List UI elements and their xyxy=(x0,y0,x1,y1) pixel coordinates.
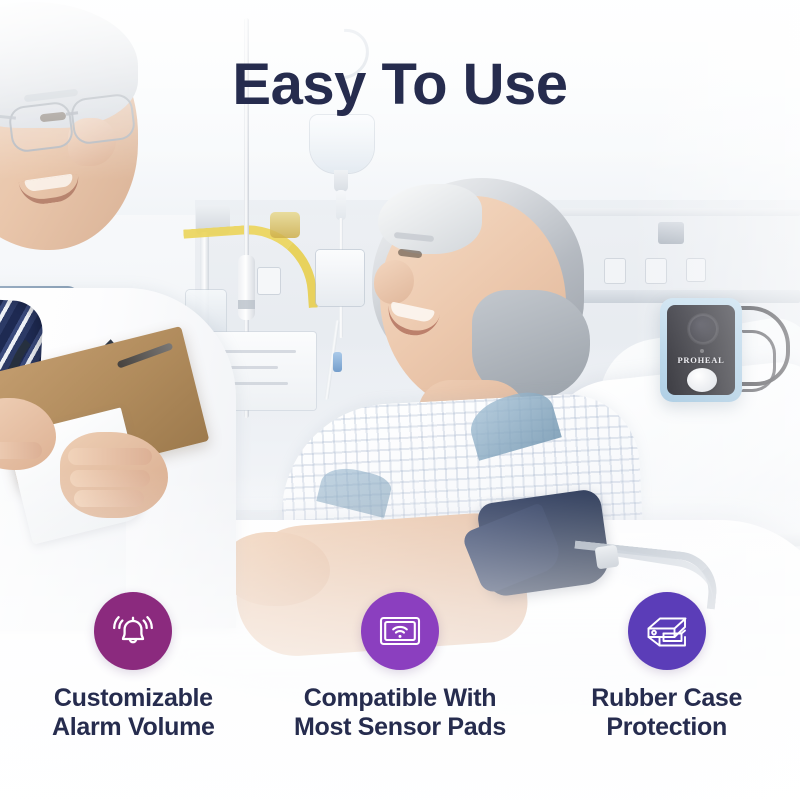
speaker-icon xyxy=(688,314,718,344)
proheal-alarm-device: PROHEAL xyxy=(660,298,742,402)
feature-row: Customizable Alarm Volume Compatible Wit… xyxy=(0,592,800,742)
device-brand-label: PROHEAL xyxy=(667,355,735,365)
page-title: Easy To Use xyxy=(0,56,800,114)
iv-bag-neck xyxy=(334,170,348,192)
lanyard-cord-inner xyxy=(740,330,776,392)
rubber-case-tray-icon-circle xyxy=(628,592,706,670)
iv-roller-clamp xyxy=(333,352,342,372)
sensor-pad-wifi-icon xyxy=(376,607,424,655)
wall-trim-upper xyxy=(560,208,800,216)
wall-socket xyxy=(645,258,667,284)
sensor-pad-wifi-icon-circle xyxy=(361,592,439,670)
feature-item-sensor-pads: Compatible With Most Sensor Pads xyxy=(267,592,534,742)
wall-socket xyxy=(604,258,626,284)
iv-drip-chamber xyxy=(336,190,346,220)
feature-label: Compatible With Most Sensor Pads xyxy=(294,684,506,742)
rubber-case-tray-icon xyxy=(643,607,691,655)
bell-icon xyxy=(110,608,156,654)
feature-item-rubber-case: Rubber Case Protection xyxy=(533,592,800,742)
iv-fluid-bag xyxy=(310,115,374,173)
wall-socket xyxy=(686,258,706,282)
doctor-hand-lower xyxy=(60,432,168,518)
patient-hair-front xyxy=(378,184,482,254)
product-feature-card: PROHEAL Easy To Use xyxy=(0,0,800,800)
feature-label: Rubber Case Protection xyxy=(591,684,742,742)
device-front-panel: PROHEAL xyxy=(667,305,735,395)
feature-label: Customizable Alarm Volume xyxy=(52,684,215,742)
cuff-connector xyxy=(595,545,620,570)
alarm-button-icon[interactable] xyxy=(687,368,717,392)
feature-item-alarm-volume: Customizable Alarm Volume xyxy=(0,592,267,742)
wall-bracket xyxy=(658,222,684,244)
wall-control-panel xyxy=(316,250,364,306)
bell-icon-circle xyxy=(94,592,172,670)
indicator-led-icon xyxy=(700,349,704,353)
